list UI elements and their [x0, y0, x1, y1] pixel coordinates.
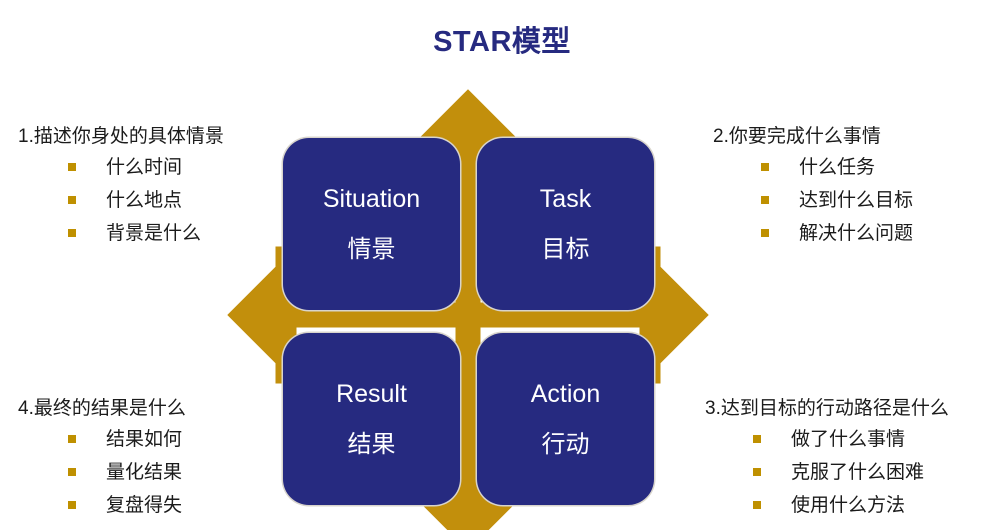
list-item: 克服了什么困难	[753, 463, 949, 482]
list-item-label: 结果如何	[106, 430, 182, 449]
list-item: 做了什么事情	[753, 430, 949, 449]
list-item-label: 做了什么事情	[791, 430, 905, 449]
label-block-action-bullets: 做了什么事情 克服了什么困难 使用什么方法	[705, 430, 949, 515]
bullet-square-icon	[761, 163, 769, 171]
list-item: 什么时间	[68, 158, 224, 177]
label-block-situation: 1.描述你身处的具体情景 什么时间 什么地点 背景是什么	[18, 126, 224, 257]
label-block-task-bullets: 什么任务 达到什么目标 解决什么问题	[713, 158, 913, 243]
list-item: 结果如何	[68, 430, 186, 449]
label-block-action-heading: 3.达到目标的行动路径是什么	[705, 398, 949, 421]
bullet-square-icon	[68, 163, 76, 171]
quadrant-action-zh: 行动	[542, 433, 590, 457]
list-item: 背景是什么	[68, 224, 224, 243]
quadrant-situation[interactable]: Situation 情景	[283, 138, 460, 310]
list-item-label: 量化结果	[106, 463, 182, 482]
quadrant-action[interactable]: Action 行动	[477, 333, 654, 505]
label-block-result-heading: 4.最终的结果是什么	[18, 398, 186, 421]
bullet-square-icon	[753, 435, 761, 443]
quadrant-task-en: Task	[540, 187, 591, 212]
label-block-situation-heading: 1.描述你身处的具体情景	[18, 126, 224, 149]
star-model-slide: STAR模型 Situation 情	[0, 0, 1004, 530]
list-item-label: 达到什么目标	[799, 191, 913, 210]
list-item-label: 克服了什么困难	[791, 463, 924, 482]
quadrant-task-zh: 目标	[542, 238, 590, 262]
label-block-action: 3.达到目标的行动路径是什么 做了什么事情 克服了什么困难 使用什么方法	[705, 398, 949, 529]
bullet-square-icon	[68, 501, 76, 509]
label-block-result: 4.最终的结果是什么 结果如何 量化结果 复盘得失	[18, 398, 186, 529]
list-item-label: 使用什么方法	[791, 496, 905, 515]
list-item: 量化结果	[68, 463, 186, 482]
list-item: 使用什么方法	[753, 496, 949, 515]
bullet-square-icon	[761, 196, 769, 204]
list-item-label: 什么任务	[799, 158, 875, 177]
bullet-square-icon	[753, 468, 761, 476]
list-item: 什么地点	[68, 191, 224, 210]
quadrant-result[interactable]: Result 结果	[283, 333, 460, 505]
list-item: 什么任务	[761, 158, 913, 177]
quadrant-task[interactable]: Task 目标	[477, 138, 654, 310]
list-item-label: 什么地点	[106, 191, 182, 210]
list-item-label: 解决什么问题	[799, 224, 913, 243]
list-item: 达到什么目标	[761, 191, 913, 210]
list-item-label: 什么时间	[106, 158, 182, 177]
list-item-label: 背景是什么	[106, 224, 201, 243]
list-item: 解决什么问题	[761, 224, 913, 243]
bullet-square-icon	[753, 501, 761, 509]
quadrant-result-zh: 结果	[348, 433, 396, 457]
label-block-result-bullets: 结果如何 量化结果 复盘得失	[18, 430, 186, 515]
quadrant-situation-zh: 情景	[348, 238, 396, 262]
page-title: STAR模型	[0, 18, 1004, 60]
label-block-task: 2.你要完成什么事情 什么任务 达到什么目标 解决什么问题	[713, 126, 913, 257]
quadrant-situation-en: Situation	[323, 187, 420, 212]
bullet-square-icon	[68, 435, 76, 443]
bullet-square-icon	[761, 229, 769, 237]
label-block-situation-bullets: 什么时间 什么地点 背景是什么	[18, 158, 224, 243]
bullet-square-icon	[68, 468, 76, 476]
bullet-square-icon	[68, 196, 76, 204]
bullet-square-icon	[68, 229, 76, 237]
quadrant-action-en: Action	[531, 382, 600, 407]
quadrant-result-en: Result	[336, 382, 407, 407]
list-item-label: 复盘得失	[106, 496, 182, 515]
label-block-task-heading: 2.你要完成什么事情	[713, 126, 913, 149]
list-item: 复盘得失	[68, 496, 186, 515]
